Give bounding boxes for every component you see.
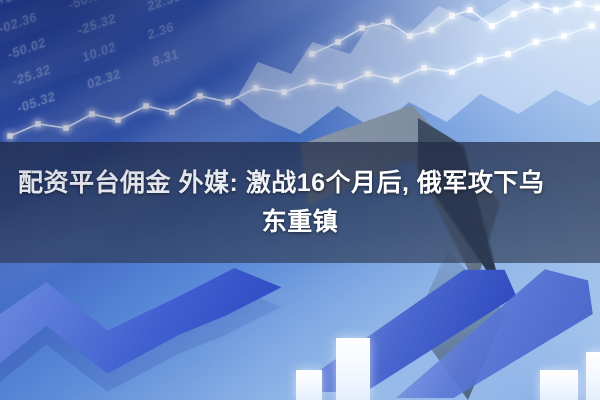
chart-node [421,65,427,71]
ticker-row: 4.26-02.36-50.02-25.3222.31 [0,0,463,114]
bar-column [336,338,370,400]
chart-node [359,25,365,31]
ticker-value: -50.02 [7,34,47,62]
bar-column [296,370,322,400]
chart-node [407,33,413,39]
chart-node [225,99,231,105]
chart-node [533,3,539,9]
chart-node [429,27,435,33]
ticker-value: -05.32 [16,88,56,116]
chart-node [477,57,483,63]
bar-column [540,370,578,400]
chart-node [169,109,175,115]
chart-line [312,4,598,54]
news-thumbnail-image: -09.30-02.36-11.2521.0245.022.26-11.26+5… [0,0,600,400]
ticker-value: -02.36 [0,9,38,37]
chart-node [575,1,581,7]
chart-node [337,83,343,89]
chevron-3d-lower [400,250,570,400]
chart-node [505,51,511,57]
chart-node [253,85,259,91]
ticker-row: -09.30-02.36-11.2521.0245.02 [0,0,449,33]
chart-node [281,89,287,95]
chart-node [335,39,341,45]
chart-node [595,5,600,11]
ticker-row: 1.16-50.02-25.3210.022.36 [0,0,468,141]
ticker-value: 2.36 [147,19,175,43]
ticker-value: 22.31 [146,0,182,14]
chart-node [511,11,517,17]
ticker-value: 10.02 [81,39,117,65]
ribbon-ascender-left [290,262,580,392]
ticker-value: -50.02 [68,0,108,13]
chart-node [467,7,473,13]
chart-node [35,121,41,127]
chart-node [143,103,149,109]
chart-node [89,111,95,117]
chart-node [63,125,69,131]
chart-node [489,23,495,29]
ticker-value: +5.02 [0,0,33,9]
ticker-row: 1.25+5.02-02.36-50.024.36 [0,0,458,87]
chart-node [7,133,13,139]
headline-text-block: 配资平台佣金 外媒: 激战16个月后, 俄军攻下乌 东重镇 [0,142,600,263]
chart-node [561,33,567,39]
zigzag-growth-arrow [0,268,460,388]
chart-node [589,23,595,29]
ribbon-shadow [0,288,460,400]
bar-chart-columns [0,290,600,400]
chart-node [365,71,371,77]
headline-line-2: 东重镇 [18,203,582,242]
chart-node [553,7,559,13]
chart-node [385,19,391,25]
chart-node [197,93,203,99]
ribbon-ascender-right [372,258,600,398]
ticker-value: 02.32 [86,66,122,92]
chart-node [449,13,455,19]
bar-column [586,352,600,400]
chart-node [449,69,455,75]
ticker-row: 2.26-11.26+5.02-02.368.31 [0,0,454,60]
chart-line [10,26,592,136]
chart-node [393,77,399,83]
headline-line-1: 配资平台佣金 外媒: 激战16个月后, 俄军攻下乌 [18,164,582,203]
chart-node [309,51,315,57]
ticker-value: -25.32 [11,61,51,89]
ticker-value: 8.31 [151,46,179,70]
chart-node [115,117,121,123]
ticker-value: -25.32 [77,10,117,38]
chart-node [309,79,315,85]
chart-node [533,39,539,45]
